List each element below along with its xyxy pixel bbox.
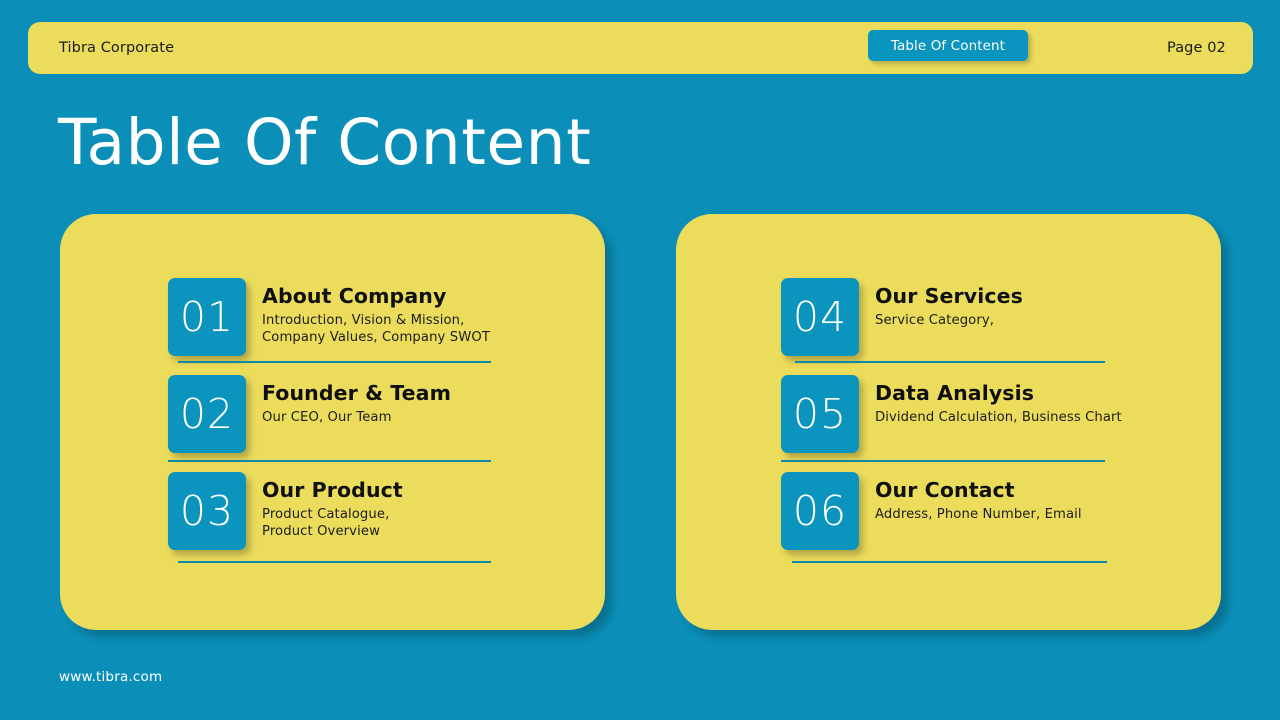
toc-list-right: 04 Our Services Service Category, 05 Dat… (676, 214, 1221, 630)
item-description: Our CEO, Our Team (262, 410, 451, 427)
item-divider (795, 361, 1105, 363)
item-divider (792, 561, 1107, 563)
item-title: Our Product (262, 478, 403, 502)
footer-website-url[interactable]: www.tibra.com (59, 669, 162, 685)
item-title: Founder & Team (262, 381, 451, 405)
item-title: Our Services (875, 284, 1023, 308)
list-item[interactable]: 01 About Company Introduction, Vision & … (168, 278, 490, 356)
item-text-block: Our Services Service Category, (875, 278, 1023, 330)
item-number-badge: 03 (168, 472, 246, 550)
item-description: Address, Phone Number, Email (875, 507, 1082, 524)
item-divider (178, 361, 491, 363)
toc-card-right: 04 Our Services Service Category, 05 Dat… (676, 214, 1221, 630)
item-number-badge: 05 (781, 375, 859, 453)
item-title: Our Contact (875, 478, 1082, 502)
item-text-block: Founder & Team Our CEO, Our Team (262, 375, 451, 427)
toc-card-left: 01 About Company Introduction, Vision & … (60, 214, 605, 630)
header-bar: Tibra Corporate Table Of Content Page 02 (28, 22, 1253, 74)
header-nav-chip-table-of-content[interactable]: Table Of Content (868, 30, 1028, 61)
toc-list-left: 01 About Company Introduction, Vision & … (60, 214, 605, 630)
item-description: Dividend Calculation, Business Chart (875, 410, 1122, 427)
item-title: Data Analysis (875, 381, 1122, 405)
list-item[interactable]: 02 Founder & Team Our CEO, Our Team (168, 375, 451, 453)
item-divider (781, 460, 1105, 462)
item-divider (178, 561, 491, 563)
item-number-badge: 01 (168, 278, 246, 356)
item-description: Service Category, (875, 313, 1023, 330)
item-number-badge: 04 (781, 278, 859, 356)
page-title: Table Of Content (58, 108, 591, 178)
page-number-label: Page 02 (1167, 40, 1226, 56)
item-text-block: Data Analysis Dividend Calculation, Busi… (875, 375, 1122, 427)
list-item[interactable]: 03 Our Product Product Catalogue, Produc… (168, 472, 403, 550)
brand-label: Tibra Corporate (59, 40, 174, 56)
item-number-badge: 02 (168, 375, 246, 453)
list-item[interactable]: 04 Our Services Service Category, (781, 278, 1023, 356)
item-number-badge: 06 (781, 472, 859, 550)
item-text-block: About Company Introduction, Vision & Mis… (262, 278, 490, 346)
list-item[interactable]: 05 Data Analysis Dividend Calculation, B… (781, 375, 1122, 453)
list-item[interactable]: 06 Our Contact Address, Phone Number, Em… (781, 472, 1082, 550)
item-text-block: Our Product Product Catalogue, Product O… (262, 472, 403, 540)
item-description: Introduction, Vision & Mission, Company … (262, 313, 490, 346)
item-title: About Company (262, 284, 490, 308)
item-text-block: Our Contact Address, Phone Number, Email (875, 472, 1082, 524)
item-description: Product Catalogue, Product Overview (262, 507, 403, 540)
item-divider (168, 460, 491, 462)
